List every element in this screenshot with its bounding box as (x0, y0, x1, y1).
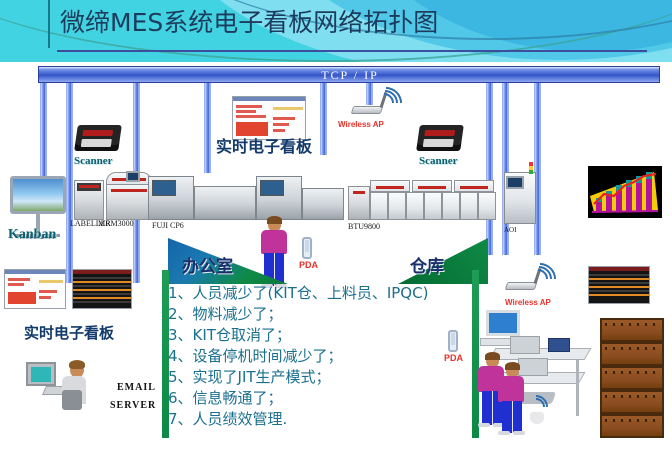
wireless-ap-warehouse-wave-3 (517, 256, 562, 301)
label-kanban: Kanban (8, 227, 56, 243)
fuji-cp6-panel-2 (260, 180, 284, 196)
thumb-dark-row-5 (73, 293, 131, 295)
thumb-wh-row-4 (589, 286, 649, 288)
thumb-top-gantt-1 (273, 107, 303, 110)
warehouse-pc-lower (518, 358, 548, 376)
thumb-dark-row-1 (73, 277, 131, 279)
thumb-top-gantt-3 (273, 123, 289, 126)
bus-drop-kanban (40, 83, 47, 183)
thumb-top-gantt-2 (273, 117, 295, 120)
thumb-dark-row-6 (73, 297, 131, 299)
btu9800-controller (348, 186, 370, 220)
slide-root: 微缔MES系统电子看板网络拓扑图 TCP / IP Kanban Scanner… (0, 0, 672, 462)
warehouse-worker-2-torso (498, 376, 524, 402)
bus-drop-dashboard-left (66, 83, 73, 283)
line-operator-torso (261, 230, 287, 254)
btu9800-door-5 (442, 192, 460, 220)
mrm3000-machine (106, 184, 152, 220)
thumb-top-header (233, 97, 305, 101)
bus-drop-aoi-left (486, 83, 493, 255)
benefit-item-4: 4、设备停机时间减少了； (168, 346, 468, 367)
kanban-display-screen (10, 176, 66, 214)
carton-box-5 (600, 414, 664, 438)
labeller-machine-indicator (79, 185, 99, 188)
bus-label-tcp-ip: TCP / IP (39, 67, 661, 84)
fuji-cp6-panel (152, 180, 176, 196)
thumb-wh-row-5 (589, 290, 649, 292)
warehouse-table-thumbnail (588, 266, 650, 304)
carton-box-3 (600, 366, 664, 390)
performance-chart-image (588, 166, 662, 218)
carton-box-4 (600, 390, 664, 414)
benefit-item-3: 3、KIT仓取消了； (168, 325, 468, 346)
warehouse-pc-upper (510, 336, 540, 354)
email-server-operator-hair (69, 360, 85, 369)
label-fuji-cp6: FUJI CP6 (152, 221, 184, 230)
btu9800-controller-indicator (353, 191, 365, 194)
pda-warehouse-icon (448, 330, 458, 352)
carton-box-2 (600, 342, 664, 366)
kanban-dashboard-thumbnail-bottom (4, 269, 66, 309)
carton-box-1 (600, 318, 664, 342)
labeller-machine (74, 180, 104, 220)
label-email-line-1: EMAIL (117, 382, 156, 393)
email-server-operator-chair (62, 390, 82, 410)
thumb-dark-row-2 (73, 281, 131, 283)
btu9800-door-2 (388, 192, 406, 220)
label-scanner-left: Scanner (74, 155, 113, 167)
benefit-item-2: 2、物料减少了； (168, 304, 468, 325)
label-scanner-right: Scanner (419, 155, 458, 167)
benefit-item-6: 6、信息畅通了； (168, 388, 468, 409)
fuji-cp6-conveyor (194, 186, 256, 220)
label-pda-warehouse: PDA (444, 353, 463, 363)
warehouse-printer (548, 338, 570, 352)
scanner-right-icon (416, 125, 464, 151)
btu9800-stripe-1 (376, 186, 404, 189)
warehouse-worker-2-shoe-left (498, 431, 510, 435)
label-aoi: AOI (504, 226, 516, 234)
office-zone-label: 办公室 (182, 252, 233, 277)
fuji-cp6-monitor (126, 171, 140, 182)
thumb-bl-bar-2 (8, 283, 24, 286)
thumb-wh-row-3 (589, 282, 649, 284)
btu9800-hood-2 (412, 180, 452, 192)
title-underline (57, 50, 647, 52)
thumb-top-bar-2 (236, 110, 256, 113)
thumb-bl-heatblock (8, 292, 36, 304)
pda-line-icon (302, 237, 312, 259)
mrm3000-indicator (111, 189, 147, 192)
thumb-top-gantt-4 (273, 129, 285, 132)
line-operator-hair (267, 216, 282, 224)
label-pda-line: PDA (299, 260, 318, 270)
performance-chart-svg (588, 166, 662, 218)
warehouse-zone-label: 仓库 (410, 252, 444, 277)
fuji-cp6-head-2 (256, 176, 302, 220)
slide-header: 微缔MES系统电子看板网络拓扑图 (0, 0, 672, 62)
warehouse-worker-1-shoe-left (478, 423, 490, 427)
bus-drop-kanban-top (204, 83, 211, 173)
thumb-wh-header (589, 267, 649, 271)
warehouse-worker-2-hair (505, 362, 520, 370)
aoi-monitor (506, 176, 524, 189)
label-wireless-ap-top: Wireless AP (338, 120, 384, 129)
benefits-right-bar (472, 270, 479, 438)
thumb-wh-row-6 (589, 294, 649, 296)
label-kanban-bottom: 实时电子看板 (24, 322, 114, 343)
btu9800-door-1 (370, 192, 388, 220)
thumb-bl-gantt-2 (39, 290, 57, 293)
thumb-bl-header (5, 270, 65, 274)
fuji-cp6-machine (148, 176, 194, 220)
warehouse-worker-1-hair (485, 352, 500, 360)
btu9800-stripe-2 (418, 186, 446, 189)
btu9800-door-4 (424, 192, 442, 220)
thumb-top-bar-3 (236, 115, 266, 118)
warehouse-desk-leg-2 (576, 360, 579, 416)
warehouse-worker-2-shoe-right (513, 431, 525, 435)
btu9800-hood-1 (370, 180, 410, 192)
warehouse-monitor (486, 310, 520, 336)
thumb-bl-gantt-3 (39, 296, 51, 299)
thumb-dark-row-7 (73, 301, 131, 303)
label-wireless-ap-warehouse: Wireless AP (505, 298, 551, 307)
thumb-top-bar-1 (236, 105, 262, 108)
btu9800-hood-3 (454, 180, 494, 192)
thumb-wh-row-2 (589, 278, 649, 280)
email-server-monitor (26, 362, 56, 386)
aoi-signal-tower (529, 162, 533, 174)
label-mrm3000: MRM3000 (98, 219, 134, 228)
warehouse-worker-2-legs (502, 401, 522, 433)
btu9800-door-7 (478, 192, 496, 220)
benefit-item-5: 5、实现了JIT生产模式； (168, 367, 468, 388)
label-kanban-top: 实时电子看板 (216, 133, 312, 157)
benefits-list: 1、人员减少了(KIT仓、上料员、IPQC) 2、物料减少了； 3、KIT仓取消… (168, 283, 468, 430)
benefit-item-7: 7、人员绩效管理. (168, 409, 468, 430)
fuji-cp6-out (302, 188, 344, 220)
bus-drop-kanban-top-right (320, 83, 327, 155)
scanner-left-icon (74, 125, 122, 151)
bus-drop-warehouse (534, 83, 541, 255)
thumb-bl-gantt-1 (39, 280, 63, 283)
header-divider-vertical (48, 0, 50, 48)
label-email-line-2: SERVER (110, 400, 156, 411)
page-title: 微缔MES系统电子看板网络拓扑图 (60, 8, 438, 38)
thumb-wh-row-1 (589, 274, 649, 276)
thumb-bl-bar-1 (8, 278, 30, 281)
benefit-item-1: 1、人员减少了(KIT仓、上料员、IPQC) (168, 283, 468, 304)
label-btu9800: BTU9800 (348, 222, 380, 231)
thumb-dark-header (73, 270, 131, 274)
network-bus-bar: TCP / IP (38, 66, 660, 83)
thumb-dark-row-4 (73, 289, 131, 291)
btu9800-stripe-3 (460, 186, 488, 189)
btu9800-door-3 (406, 192, 424, 220)
thumb-dark-row-3 (73, 285, 131, 287)
kanban-table-thumbnail-bottom (72, 269, 132, 309)
btu9800-door-6 (460, 192, 478, 220)
